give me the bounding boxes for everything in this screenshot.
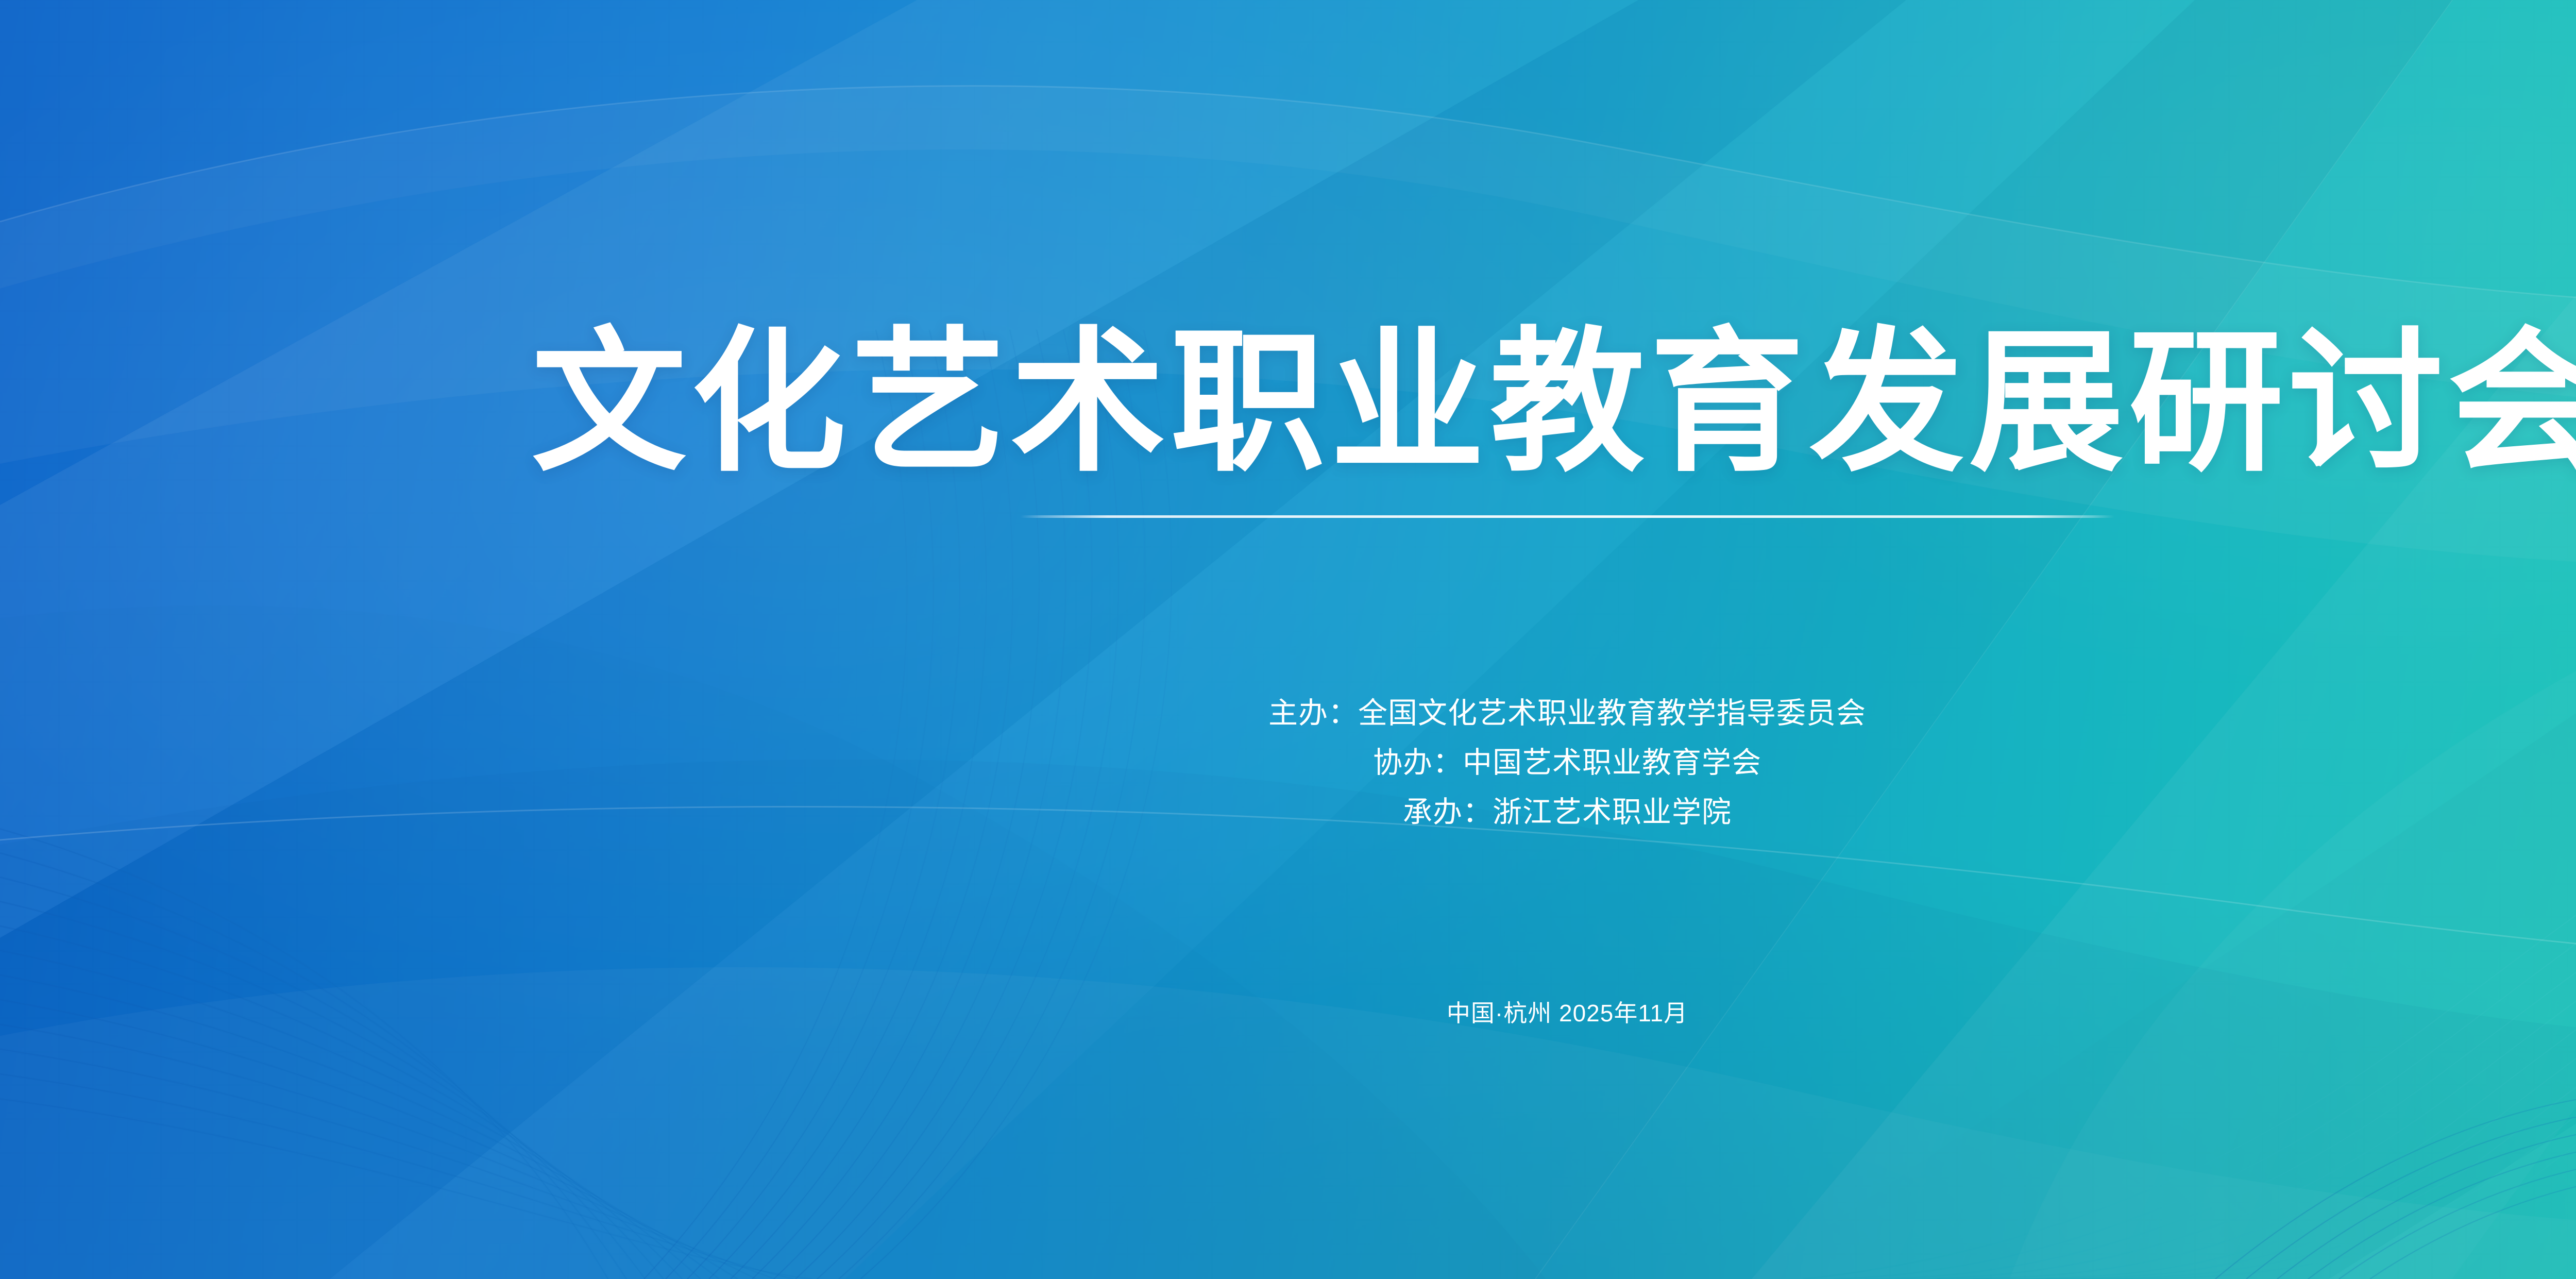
organizer-line-undertaker: 承办：浙江艺术职业学院 xyxy=(0,787,2576,837)
organizer-line-host: 主办：全国文化艺术职业教育教学指导委员会 xyxy=(0,688,2576,738)
banner-title: 文化艺术职业教育发展研讨会 xyxy=(0,325,2576,480)
organizer-line-coorganizer: 协办：中国艺术职业教育学会 xyxy=(0,738,2576,787)
venue-date-line: 中国·杭州 2025年11月 xyxy=(0,997,2576,1030)
title-divider-rule xyxy=(1020,515,2114,518)
organizer-block: 主办：全国文化艺术职业教育教学指导委员会 协办：中国艺术职业教育学会 承办：浙江… xyxy=(0,688,2576,837)
banner-content: 文化艺术职业教育发展研讨会 主办：全国文化艺术职业教育教学指导委员会 协办：中国… xyxy=(0,0,2576,1279)
conference-backdrop-banner: 文化艺术职业教育发展研讨会 主办：全国文化艺术职业教育教学指导委员会 协办：中国… xyxy=(0,0,2576,1279)
